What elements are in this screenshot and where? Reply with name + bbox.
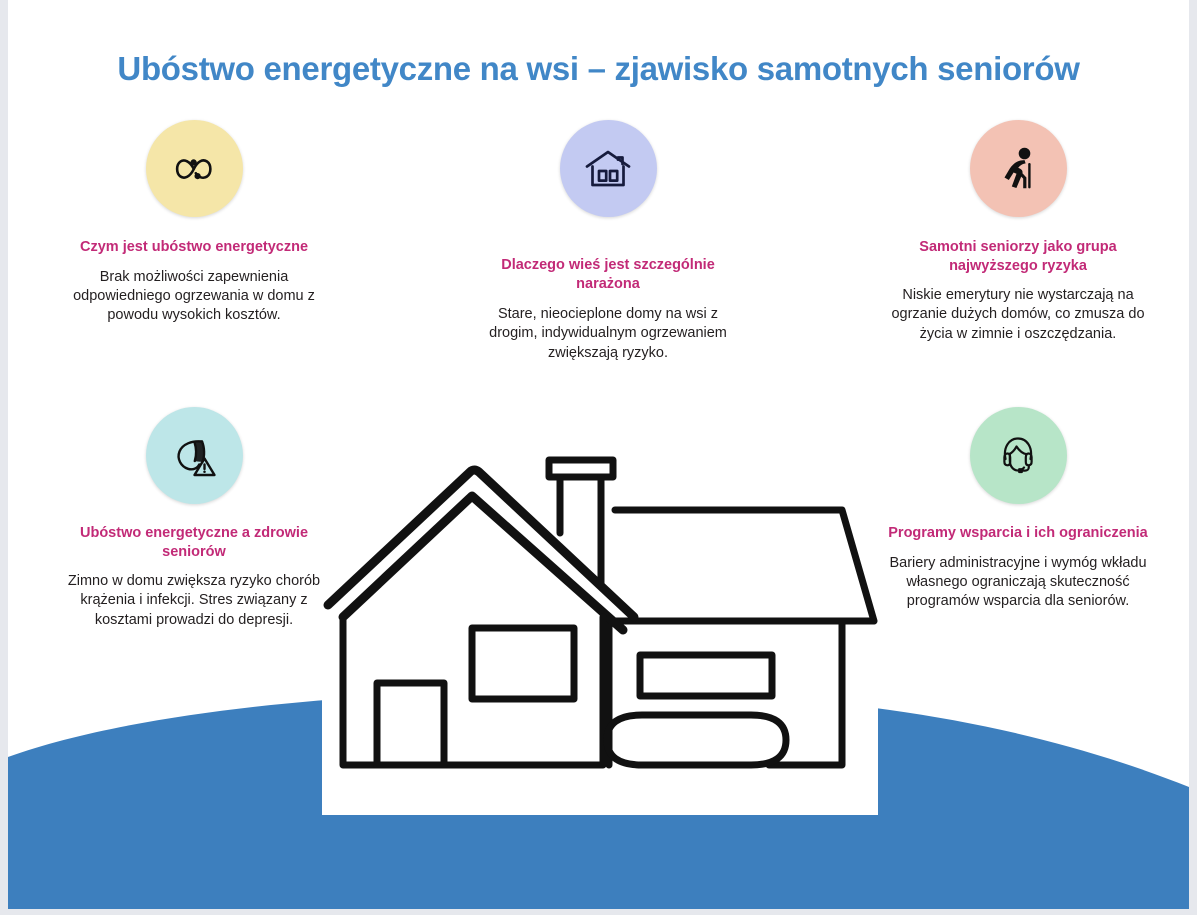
card-czym-jest-ubostwo-energetyczne: Czym jest ubóstwo energetyczne Brak możl… (64, 120, 324, 325)
rural-house-illustration (322, 425, 878, 815)
swirl-infinity-icon (171, 149, 217, 189)
card-ubostwo-energetyczne-a-zdrowie-seniorow: Ubóstwo energetyczne a zdrowie seniorów … (64, 407, 324, 630)
card-body: Stare, nieocieplone domy na wsi z drogim… (478, 305, 738, 363)
icon-circle-swirl (146, 120, 243, 217)
card-dlaczego-wies-jest-szczegolnie-narazona: Dlaczego wieś jest szczególnie narażona … (478, 120, 738, 363)
card-title: Czym jest ubóstwo energetyczne (64, 238, 324, 257)
infographic-canvas: Ubóstwo energetyczne na wsi – zjawisko s… (8, 0, 1189, 909)
icon-circle-organ-warning (146, 407, 243, 504)
elderly-person-with-cane-icon (996, 146, 1040, 192)
headset-support-agent-icon (995, 433, 1041, 479)
card-title: Ubóstwo energetyczne a zdrowie seniorów (64, 524, 324, 561)
page-title: Ubóstwo energetyczne na wsi – zjawisko s… (8, 48, 1189, 89)
card-title: Dlaczego wieś jest szczególnie narażona (478, 256, 738, 293)
icon-circle-house (560, 120, 657, 217)
card-title: Programy wsparcia i ich ograniczenia (888, 524, 1148, 543)
card-body: Zimno w domu zwiększa ryzyko chorób krąż… (64, 572, 324, 630)
card-title: Samotni seniorzy jako grupa najwyższego … (888, 238, 1148, 275)
house-icon (584, 147, 632, 191)
card-body: Bariery administracyjne i wymóg wkładu w… (888, 554, 1148, 612)
card-programy-wsparcia-i-ich-ograniczenia: Programy wsparcia i ich ograniczenia Bar… (888, 407, 1148, 611)
card-body: Brak możliwości zapewnienia odpowiednieg… (64, 268, 324, 326)
card-body: Niskie emerytury nie wystarczają na ogrz… (888, 286, 1148, 344)
organ-health-warning-icon (171, 434, 217, 478)
icon-circle-elderly (970, 120, 1067, 217)
card-samotni-seniorzy-jako-grupa-najwyzszego-ryzyka: Samotni seniorzy jako grupa najwyższego … (888, 120, 1148, 344)
icon-circle-headset (970, 407, 1067, 504)
